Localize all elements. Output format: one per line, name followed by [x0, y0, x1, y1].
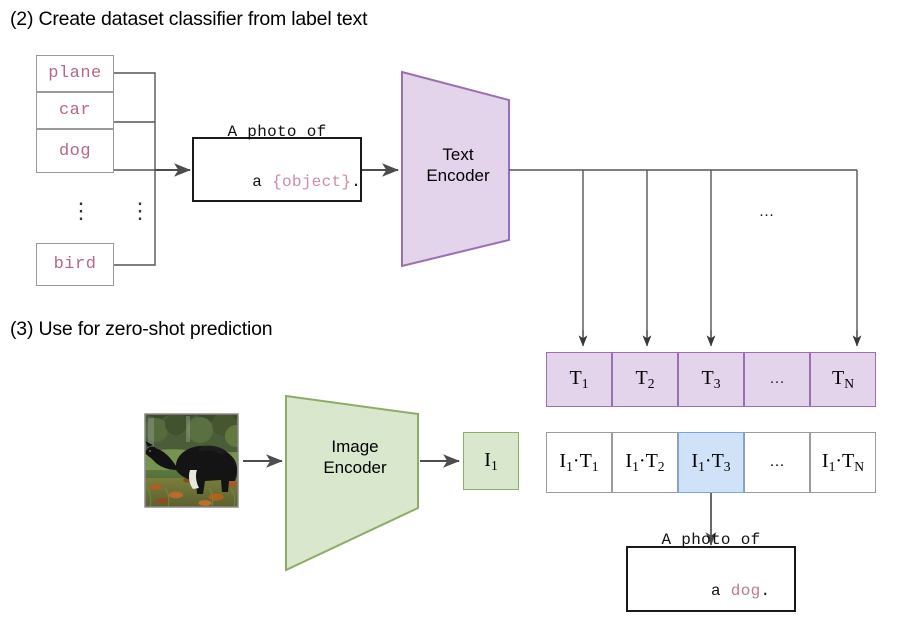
- prompt-line2-prefix: a: [252, 173, 272, 191]
- similarity-cell-n-i: I: [822, 450, 829, 472]
- similarity-ellipsis: …: [770, 454, 785, 471]
- similarity-row: I1·T1 I1·T2 I1·T3 … I1·TN: [546, 432, 876, 493]
- result-predicted-class: dog: [731, 582, 761, 600]
- prompt-line2-suffix: .: [351, 173, 361, 191]
- similarity-cell-2-dot: ·: [639, 450, 646, 472]
- connector-column-vertical-ellipsis: ⋮: [129, 200, 151, 222]
- similarity-cell-2-t: T: [646, 450, 658, 472]
- image-embedding-cell[interactable]: I1: [463, 432, 519, 490]
- text-embedding-cell-1[interactable]: T1: [546, 352, 612, 407]
- text-embedding-sub-3: 3: [714, 376, 721, 391]
- diagram-connectors-layer: [0, 0, 906, 624]
- label-box-plane[interactable]: plane: [36, 55, 114, 92]
- text-encoder-fanout-bus: [509, 170, 857, 344]
- similarity-cell-3-isub: 1: [698, 459, 705, 474]
- label-box-bird[interactable]: bird: [36, 243, 114, 286]
- text-embedding-cell-n[interactable]: TN: [810, 352, 876, 407]
- text-embedding-cell-2[interactable]: T2: [612, 352, 678, 407]
- similarity-cell-n[interactable]: I1·TN: [810, 432, 876, 493]
- text-embeddings-row: T1 T2 T3 … TN: [546, 352, 876, 407]
- result-line-1: A photo of: [661, 528, 760, 554]
- clip-diagram: (2) Create dataset classifier from label…: [0, 0, 906, 624]
- text-embedding-base-n: T: [832, 367, 844, 389]
- text-embedding-sub-1: 1: [582, 376, 589, 391]
- label-text-bird: bird: [54, 255, 97, 274]
- label-column-vertical-ellipsis: ⋮: [70, 200, 92, 222]
- similarity-cell-1-t: T: [580, 450, 592, 472]
- similarity-cell-2-tsub: 2: [658, 459, 665, 474]
- image-encoder-label: Image Encoder: [305, 437, 405, 478]
- section-heading-create-classifier: (2) Create dataset classifier from label…: [10, 8, 367, 31]
- image-embedding-base: I: [484, 449, 491, 471]
- label-text-plane: plane: [48, 64, 102, 83]
- text-embedding-cell-3[interactable]: T3: [678, 352, 744, 407]
- fanout-ellipsis: …: [759, 204, 775, 221]
- text-encoder-label-line2: Encoder: [413, 166, 503, 187]
- image-embedding-sub: 1: [491, 457, 498, 472]
- prediction-result-box[interactable]: A photo of a dog.: [626, 546, 796, 612]
- text-encoder-label-line1: Text: [413, 145, 503, 166]
- text-embedding-base-2: T: [635, 367, 647, 389]
- similarity-cell-n-t: T: [842, 450, 854, 472]
- text-embedding-ellipsis: …: [770, 371, 785, 388]
- similarity-cell-1[interactable]: I1·T1: [546, 432, 612, 493]
- prompt-line-1: A photo of: [227, 120, 326, 145]
- similarity-cell-3-t: T: [712, 450, 724, 472]
- input-photo: [144, 412, 247, 507]
- similarity-cell-3-selected[interactable]: I1·T3: [678, 432, 744, 493]
- text-encoder-label: Text Encoder: [413, 145, 503, 186]
- text-embedding-cell-ellipsis: …: [744, 352, 810, 407]
- prompt-template-box[interactable]: A photo of a {object}.: [192, 137, 362, 202]
- image-encoder-label-line2: Encoder: [305, 458, 405, 479]
- prompt-object-slot: {object}: [272, 173, 351, 191]
- text-embedding-sub-n: N: [844, 376, 854, 391]
- result-line2-prefix: a: [711, 582, 731, 600]
- label-text-dog: dog: [59, 142, 91, 161]
- text-embedding-sub-2: 2: [648, 376, 655, 391]
- similarity-cell-n-tsub: N: [854, 459, 864, 474]
- similarity-cell-ellipsis: …: [744, 432, 810, 493]
- similarity-cell-2-isub: 1: [632, 459, 639, 474]
- label-text-car: car: [59, 101, 91, 120]
- similarity-cell-3-tsub: 3: [724, 459, 731, 474]
- similarity-cell-1-isub: 1: [566, 459, 573, 474]
- image-encoder-label-line1: Image: [305, 437, 405, 458]
- image-encoder-shape: [286, 396, 418, 570]
- section-heading-zero-shot: (3) Use for zero-shot prediction: [10, 318, 272, 341]
- label-box-car[interactable]: car: [36, 92, 114, 129]
- similarity-cell-2[interactable]: I1·T2: [612, 432, 678, 493]
- similarity-cell-1-tsub: 1: [592, 459, 599, 474]
- similarity-cell-3-dot: ·: [705, 450, 712, 472]
- similarity-cell-1-dot: ·: [573, 450, 580, 472]
- label-box-dog[interactable]: dog: [36, 129, 114, 173]
- result-line-2: a dog.: [652, 553, 771, 630]
- label-to-prompt-connectors: [114, 73, 155, 265]
- prompt-line-2: a {object}.: [193, 145, 361, 219]
- text-embedding-base-3: T: [701, 367, 713, 389]
- result-line2-suffix: .: [761, 582, 771, 600]
- text-embedding-base-1: T: [569, 367, 581, 389]
